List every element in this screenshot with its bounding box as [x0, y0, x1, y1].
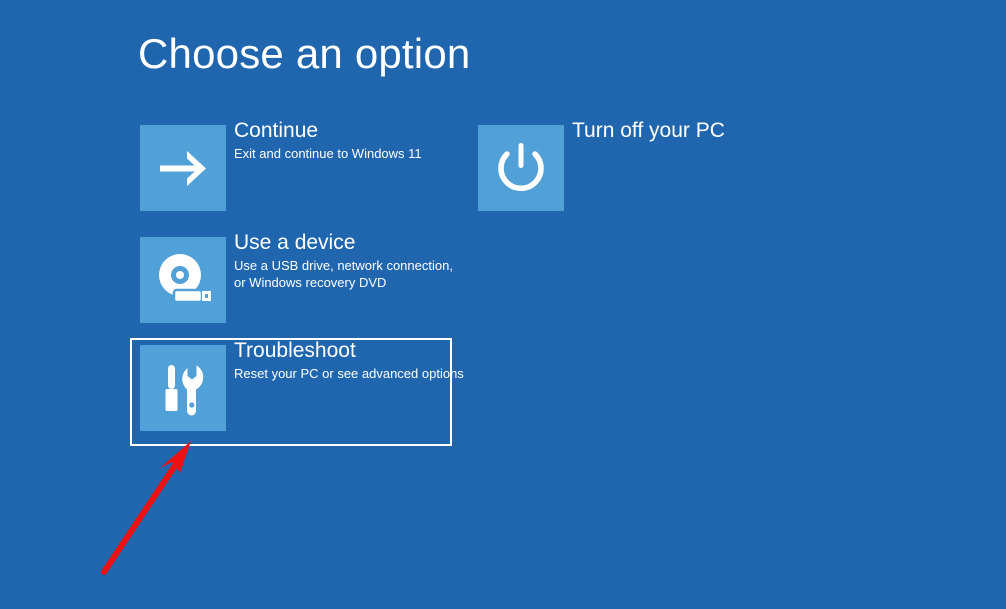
option-title: Troubleshoot: [234, 338, 534, 364]
disc-usb-icon: [140, 237, 226, 323]
page-title: Choose an option: [138, 30, 470, 78]
option-subtitle: Reset your PC or see advanced options: [234, 365, 534, 382]
use-a-device-texts: Use a device Use a USB drive, network co…: [234, 230, 564, 291]
troubleshoot-tile: [140, 345, 226, 431]
recovery-screen: Choose an option Continue Exit and conti…: [0, 0, 1006, 609]
turn-off-your-pc-texts: Turn off your PC: [572, 118, 902, 145]
option-troubleshoot[interactable]: Troubleshoot Reset your PC or see advanc…: [130, 338, 452, 446]
screwdriver-wrench-icon: [140, 345, 226, 431]
continue-tile: [140, 125, 226, 211]
option-continue[interactable]: Continue Exit and continue to Windows 11: [130, 118, 470, 218]
option-subtitle: Use a USB drive, network connection, or …: [234, 257, 564, 291]
turn-off-your-pc-tile: [478, 125, 564, 211]
option-title: Turn off your PC: [572, 118, 902, 144]
option-use-a-device[interactable]: Use a device Use a USB drive, network co…: [130, 230, 470, 330]
use-a-device-tile: [140, 237, 226, 323]
option-turn-off-your-pc[interactable]: Turn off your PC: [468, 118, 768, 218]
option-title: Use a device: [234, 230, 564, 256]
arrow-right-icon: [140, 125, 226, 211]
troubleshoot-texts: Troubleshoot Reset your PC or see advanc…: [234, 338, 534, 382]
power-icon: [478, 125, 564, 211]
